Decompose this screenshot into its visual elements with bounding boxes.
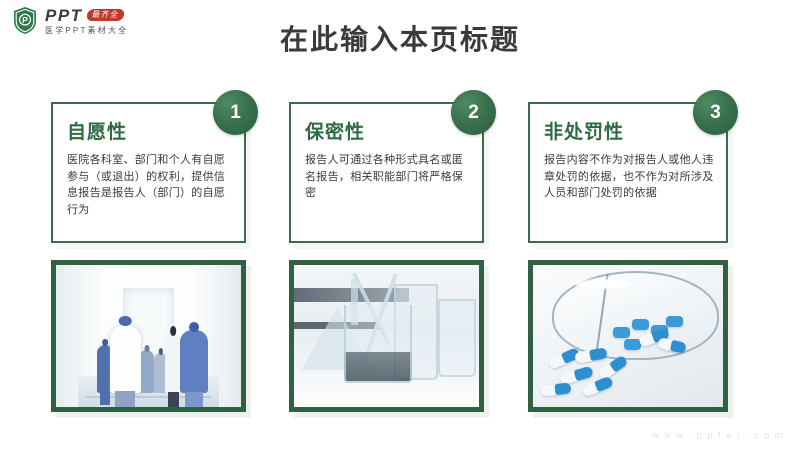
card-2-number-badge: 2 <box>451 90 496 135</box>
card-1-body: 医院各科室、部门和个人有自愿参与（或退出）的权利，提供信息报告是报告人（部门）的… <box>67 152 232 218</box>
photo-row <box>51 260 751 412</box>
card-2-body: 报告人可通过各种形式具名或匿名报告，相关职能部门将严格保密 <box>305 152 470 202</box>
photo-laboratory-glassware <box>289 260 484 412</box>
card-3: 非处罚性 报告内容不作为对报告人或他人违章处罚的依据，也不作为对所涉及人员和部门… <box>528 102 728 243</box>
photo-hospital-corridor <box>51 260 246 412</box>
card-1-number-badge: 1 <box>213 90 258 135</box>
card-3-number-badge: 3 <box>693 90 738 135</box>
card-1: 自愿性 医院各科室、部门和个人有自愿参与（或退出）的权利，提供信息报告是报告人（… <box>51 102 246 243</box>
card-3-body: 报告内容不作为对报告人或他人违章处罚的依据，也不作为对所涉及人员和部门处罚的依据 <box>544 152 714 202</box>
card-2-heading: 保密性 <box>305 117 365 144</box>
page-title: 在此输入本页标题 <box>0 18 800 58</box>
card-row: 自愿性 医院各科室、部门和个人有自愿参与（或退出）的权利，提供信息报告是报告人（… <box>51 102 751 247</box>
footer-website: w w w . p p t e r . c o m <box>652 430 784 440</box>
photo-blue-capsules <box>528 260 728 412</box>
card-2: 保密性 报告人可通过各种形式具名或匿名报告，相关职能部门将严格保密 2 <box>289 102 484 243</box>
card-1-heading: 自愿性 <box>67 117 127 144</box>
card-3-heading: 非处罚性 <box>544 117 624 144</box>
